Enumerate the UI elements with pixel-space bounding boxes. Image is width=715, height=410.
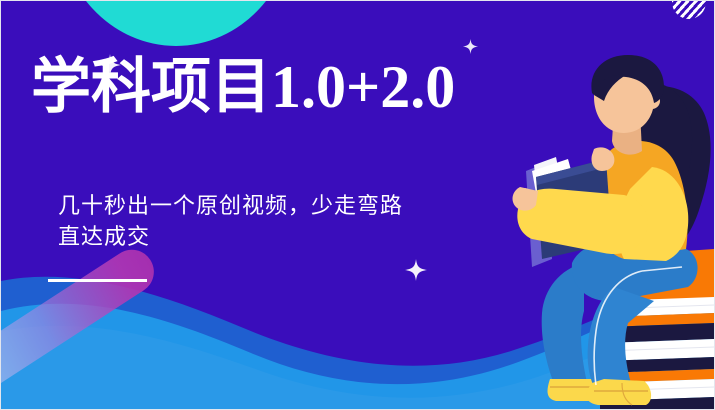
subtitle-line-1: 几十秒出一个原创视频，少走弯路 bbox=[58, 190, 488, 221]
poster-text-block: 学科项目1.0+2.0 几十秒出一个原创视频，少走弯路 直达成交 bbox=[1, 1, 521, 409]
poster-subtitle: 几十秒出一个原创视频，少走弯路 直达成交 bbox=[58, 190, 488, 252]
promo-poster: 学科项目1.0+2.0 几十秒出一个原创视频，少走弯路 直达成交 bbox=[0, 0, 715, 410]
page-title: 学科项目1.0+2.0 bbox=[31, 57, 455, 117]
subtitle-line-2: 直达成交 bbox=[58, 221, 488, 252]
white-divider-line bbox=[48, 279, 147, 282]
